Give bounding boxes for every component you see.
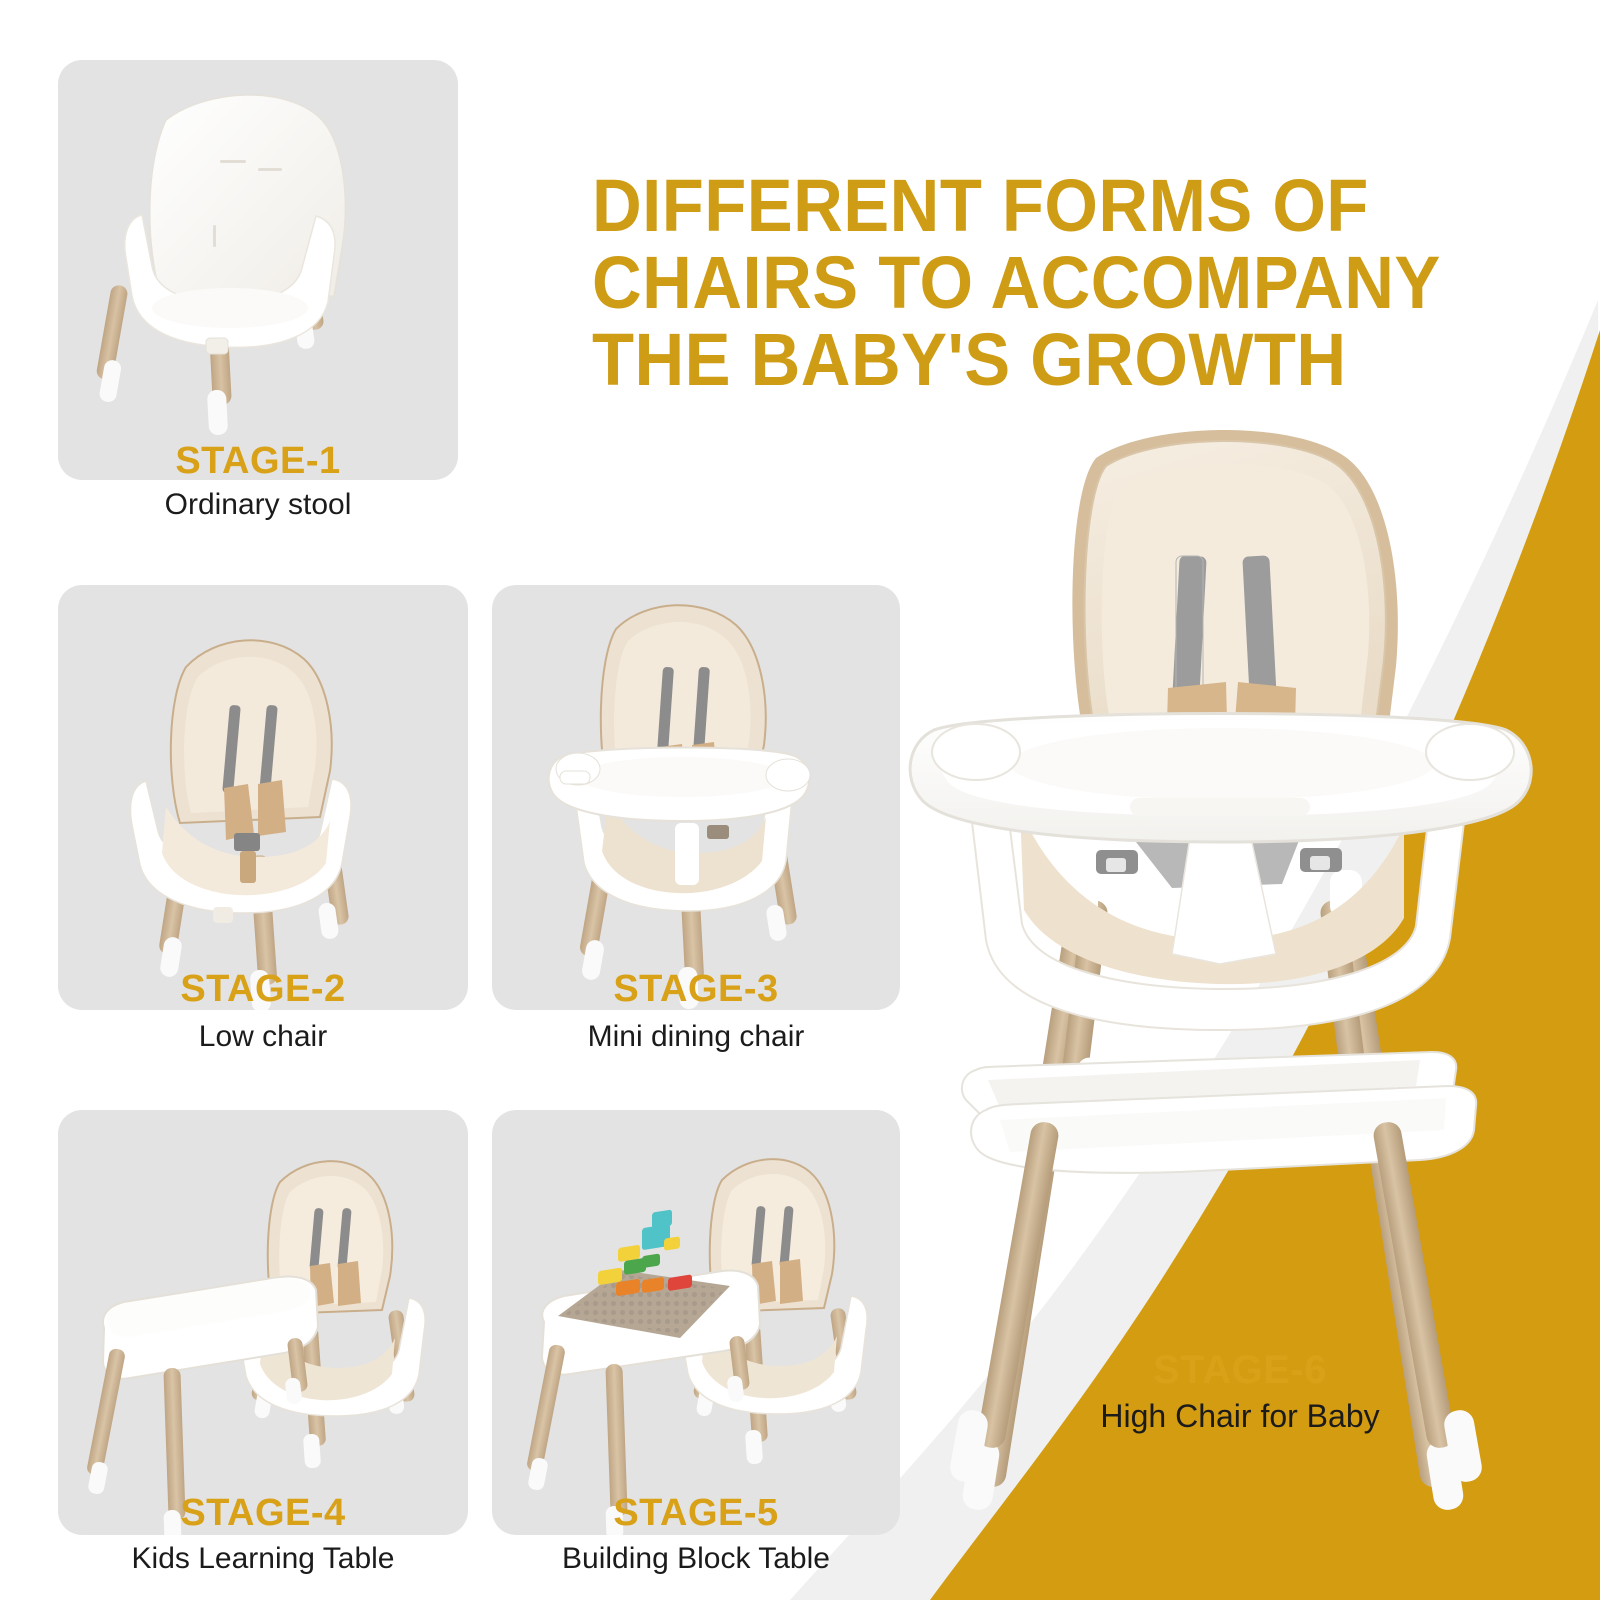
page-title: DIFFERENT FORMS OF CHAIRS TO ACCOMPANY T… — [592, 168, 1438, 399]
stage-label-5: STAGE-5 — [492, 1492, 900, 1535]
low-chair-illustration — [58, 585, 468, 1010]
ordinary-stool-illustration — [58, 60, 458, 480]
page-title-line-3: THE BABY'S GROWTH — [592, 322, 1438, 399]
mini-dining-chair-illustration — [492, 585, 900, 1010]
stage-desc-6: High Chair for Baby — [1030, 1398, 1450, 1435]
stage-desc-5: Building Block Table — [492, 1542, 900, 1576]
stage-card-5[interactable] — [492, 1110, 900, 1535]
stage-label-4: STAGE-4 — [58, 1492, 468, 1535]
stage-desc-2: Low chair — [58, 1020, 468, 1054]
kids-learning-table-illustration — [58, 1110, 468, 1535]
stage-card-1[interactable] — [58, 60, 458, 480]
infographic-canvas: DIFFERENT FORMS OF CHAIRS TO ACCOMPANY T… — [0, 0, 1600, 1600]
stage-desc-1: Ordinary stool — [58, 488, 458, 522]
stage-desc-3: Mini dining chair — [492, 1020, 900, 1054]
chair-tray — [910, 714, 1531, 843]
building-block-table-illustration — [492, 1110, 900, 1535]
page-title-line-2: CHAIRS TO ACCOMPANY — [592, 245, 1438, 322]
stage-card-4[interactable] — [58, 1110, 468, 1535]
stage-label-2: STAGE-2 — [58, 968, 468, 1011]
stage-label-6: STAGE-6 — [1030, 1348, 1450, 1393]
page-title-line-1: DIFFERENT FORMS OF — [592, 168, 1438, 245]
stage-desc-4: Kids Learning Table — [58, 1542, 468, 1576]
stage-card-3[interactable] — [492, 585, 900, 1010]
stage-card-2[interactable] — [58, 585, 468, 1010]
stage-label-1: STAGE-1 — [58, 440, 458, 483]
stage-label-3: STAGE-3 — [492, 968, 900, 1011]
